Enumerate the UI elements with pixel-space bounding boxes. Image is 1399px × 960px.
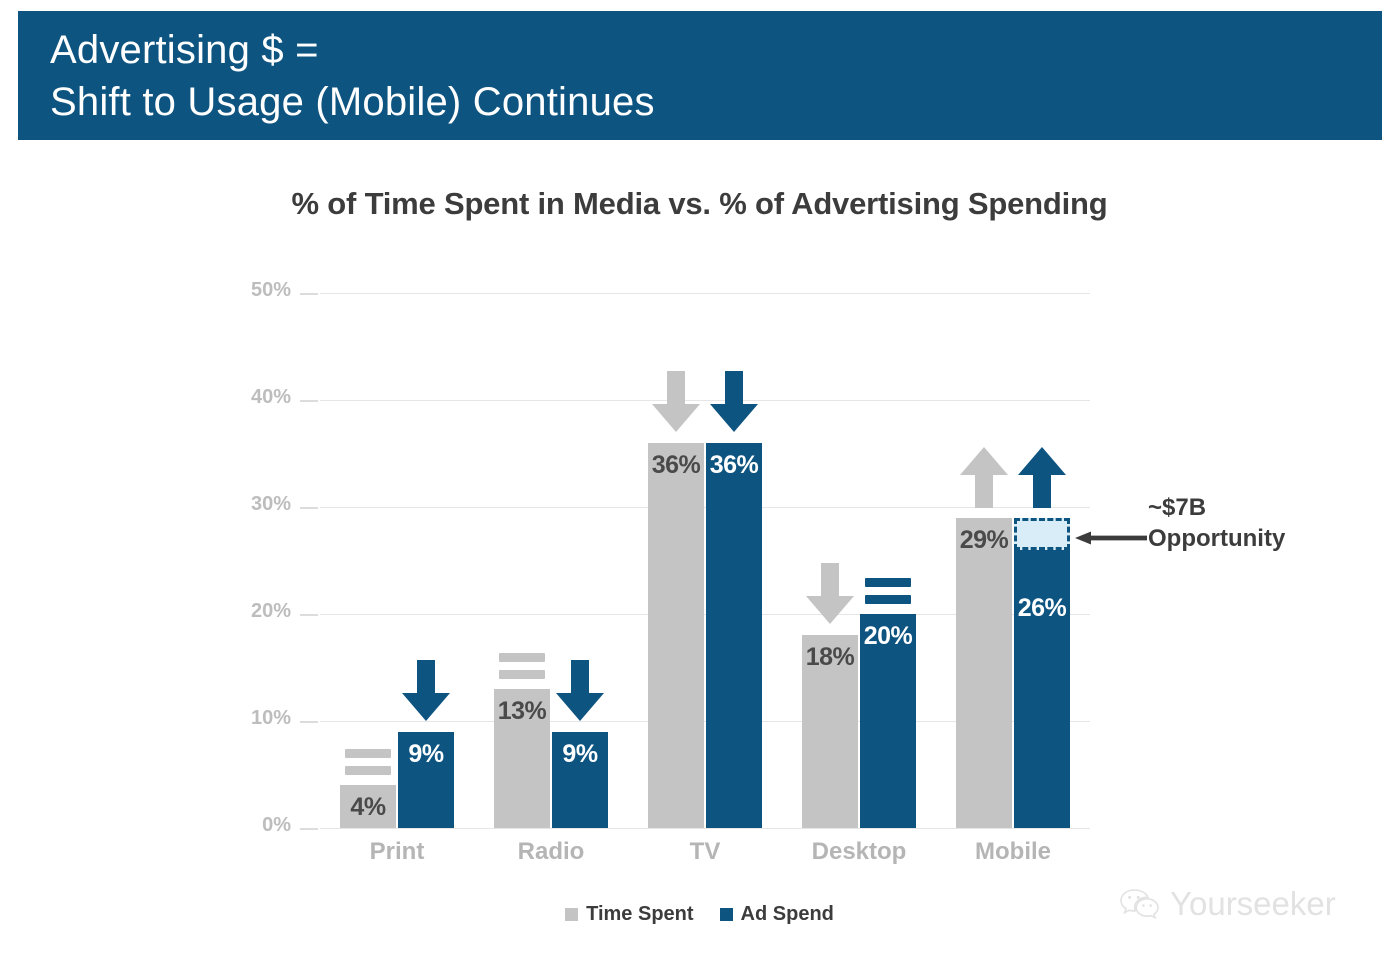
bar-value-label: 13%	[498, 697, 547, 726]
arrow-down-icon	[805, 563, 855, 625]
bar-mobile-time-spent[interactable]: 29%	[956, 518, 1012, 828]
plot-area: 4%9%13%9%36%36%18%20%29%26%	[320, 293, 1090, 828]
arrow-up-icon	[1017, 446, 1067, 508]
trend-indicator	[398, 660, 454, 722]
x-axis-label-tv: TV	[625, 838, 785, 866]
opportunity-callout: ~$7B Opportunity	[1148, 492, 1378, 554]
y-axis-tick-mark	[300, 828, 318, 830]
arrow-down-icon	[651, 371, 701, 433]
gridline	[320, 828, 1090, 829]
legend-item-time-spent[interactable]: Time Spent	[565, 903, 693, 926]
opportunity-label: Opportunity	[1148, 523, 1378, 554]
trend-indicator	[706, 371, 762, 433]
trend-indicator	[956, 446, 1012, 508]
bar-tv-ad-spend[interactable]: 36%	[706, 443, 762, 828]
arrow-up-icon	[959, 446, 1009, 508]
arrow-down-icon	[401, 660, 451, 722]
opportunity-arrow-icon	[1075, 531, 1147, 545]
y-axis-tick-mark	[300, 400, 318, 402]
bar-mobile-ad-spend[interactable]: 26%	[1014, 550, 1070, 828]
bar-value-label: 9%	[408, 740, 443, 769]
bar-value-label: 26%	[1018, 594, 1067, 623]
y-axis-tick-mark	[300, 507, 318, 509]
bar-desktop-ad-spend[interactable]: 20%	[860, 614, 916, 828]
bar-group: 13%9%	[494, 293, 608, 828]
legend-swatch	[720, 908, 733, 921]
bar-radio-ad-spend[interactable]: 9%	[552, 732, 608, 828]
equals-icon	[345, 749, 391, 775]
watermark: Yourseeker	[1120, 885, 1336, 923]
trend-indicator	[802, 563, 858, 625]
y-axis-tick-label: 10%	[231, 707, 291, 730]
bar-radio-time-spent[interactable]: 13%	[494, 689, 550, 828]
trend-indicator	[552, 660, 608, 722]
bar-value-label: 4%	[350, 793, 385, 822]
bar-value-label: 18%	[806, 643, 855, 672]
arrow-down-icon	[555, 660, 605, 722]
x-axis-label-desktop: Desktop	[779, 838, 939, 866]
equals-icon	[499, 653, 545, 679]
y-axis-tick-mark	[300, 721, 318, 723]
bar-tv-time-spent[interactable]: 36%	[648, 443, 704, 828]
x-axis-label-radio: Radio	[471, 838, 631, 866]
legend-item-ad-spend[interactable]: Ad Spend	[720, 903, 834, 926]
bar-group: 4%9%	[340, 293, 454, 828]
legend-label: Time Spent	[586, 903, 693, 926]
arrow-down-icon	[709, 371, 759, 433]
bar-value-label: 29%	[960, 526, 1009, 555]
trend-indicator	[860, 578, 916, 604]
trend-indicator	[340, 749, 396, 775]
y-axis-tick-label: 50%	[231, 279, 291, 302]
trend-indicator	[1014, 446, 1070, 508]
y-axis-tick-label: 20%	[231, 600, 291, 623]
y-axis-tick-label: 0%	[231, 814, 291, 837]
bar-group: 18%20%	[802, 293, 916, 828]
bar-print-time-spent[interactable]: 4%	[340, 785, 396, 828]
y-axis-tick-mark	[300, 293, 318, 295]
bar-print-ad-spend[interactable]: 9%	[398, 732, 454, 828]
bar-value-label: 36%	[710, 451, 759, 480]
bar-value-label: 9%	[562, 740, 597, 769]
trend-indicator	[648, 371, 704, 433]
bar-desktop-time-spent[interactable]: 18%	[802, 635, 858, 828]
equals-icon	[865, 578, 911, 604]
x-axis-label-print: Print	[317, 838, 477, 866]
x-axis-label-mobile: Mobile	[933, 838, 1093, 866]
watermark-text: Yourseeker	[1170, 885, 1336, 923]
opportunity-box[interactable]	[1014, 518, 1070, 550]
opportunity-amount: ~$7B	[1148, 492, 1378, 523]
legend-label: Ad Spend	[741, 903, 834, 926]
bar-value-label: 36%	[652, 451, 701, 480]
chart-area: % of Media Time in Media / Advertising S…	[0, 0, 1399, 960]
trend-indicator	[494, 653, 550, 679]
wechat-icon	[1120, 887, 1160, 921]
bar-value-label: 20%	[864, 622, 913, 651]
bar-group: 36%36%	[648, 293, 762, 828]
y-axis-tick-mark	[300, 614, 318, 616]
bar-group: 29%26%	[956, 293, 1070, 828]
y-axis-tick-label: 30%	[231, 493, 291, 516]
legend-swatch	[565, 908, 578, 921]
y-axis-tick-label: 40%	[231, 386, 291, 409]
